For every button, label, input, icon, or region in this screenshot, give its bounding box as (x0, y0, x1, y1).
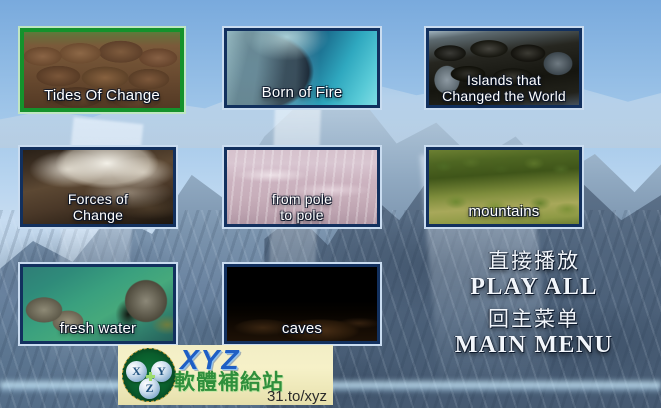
watermark-banner: X Y Z XYZ 軟體補給站 31.to/xyz (118, 345, 333, 405)
tile-thumbnail (429, 31, 579, 105)
chapter-tile-born-of-fire[interactable]: Born of Fire (222, 26, 382, 110)
chapter-tile-forces-of-change[interactable]: Forces of Change (18, 145, 178, 229)
thumbnail-art-cave-interior (227, 267, 377, 341)
thumbnail-art-rock (24, 32, 180, 108)
menu-item-main-menu[interactable]: 回主菜单 MAIN MENU (414, 307, 654, 359)
tile-thumbnail (227, 31, 377, 105)
play-all-label-cn: 直接播放 (414, 249, 654, 274)
tile-thumbnail (227, 150, 377, 224)
tile-thumbnail (429, 150, 579, 224)
chapter-tile-fresh-water[interactable]: fresh water (18, 262, 178, 346)
watermark-url: 31.to/xyz (267, 388, 327, 405)
tile-thumbnail (227, 267, 377, 341)
menu-item-play-all[interactable]: 直接播放 PLAY ALL (414, 249, 654, 301)
thumbnail-art-cliffs-water (23, 267, 173, 341)
tile-thumbnail (23, 267, 173, 341)
logo-ball-z: Z (139, 378, 160, 399)
thumbnail-art-lava-rock (429, 31, 579, 105)
thumbnail-art-forest-slope (429, 150, 579, 224)
chapter-tile-tides-of-change[interactable]: Tides Of Change (18, 26, 186, 114)
xyz-logo-icon: X Y Z (122, 348, 176, 402)
main-menu-label-en: MAIN MENU (414, 332, 654, 359)
thumbnail-art-polar-ice (227, 150, 377, 224)
tile-thumbnail (23, 150, 173, 224)
play-all-label-en: PLAY ALL (414, 274, 654, 301)
chapter-tile-from-pole-to-pole[interactable]: from pole to pole (222, 145, 382, 229)
main-menu-label-cn: 回主菜单 (414, 307, 654, 332)
tile-thumbnail (24, 32, 180, 108)
chapter-tile-mountains[interactable]: mountains (424, 145, 584, 229)
logo-cross-icon (146, 372, 155, 381)
thumbnail-art-underwater (227, 31, 377, 105)
dvd-chapter-menu-screen: Tides Of Change Born of Fire Islands tha… (0, 0, 661, 408)
chapter-tile-islands-that-changed-the-world[interactable]: Islands that Changed the World (424, 26, 584, 110)
chapter-tile-caves[interactable]: caves (222, 262, 382, 346)
thumbnail-art-ash-cloud (23, 150, 173, 224)
